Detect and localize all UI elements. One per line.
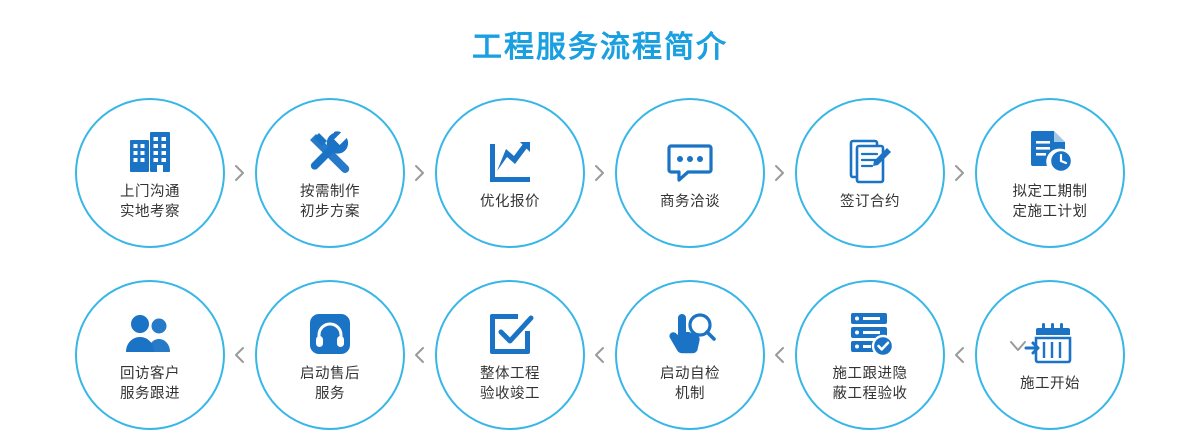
flow-node-8[interactable]: 施工跟进隐 蔽工程验收 xyxy=(795,280,945,430)
flow-node-9[interactable]: 启动自检 机制 xyxy=(615,280,765,430)
flow-node-label: 施工开始 xyxy=(1020,374,1080,394)
flow-node-10[interactable]: 整体工程 验收竣工 xyxy=(435,280,585,430)
flow-node-12[interactable]: 回访客户 服务跟进 xyxy=(75,280,225,430)
headset-icon xyxy=(304,306,356,358)
chart-down-icon xyxy=(484,134,536,186)
server-check-icon xyxy=(844,306,896,358)
tools-icon xyxy=(304,124,356,176)
contract-pen-icon xyxy=(844,134,896,186)
flow-node-label: 启动售后 服务 xyxy=(300,364,360,404)
checkbox-icon xyxy=(484,306,536,358)
connector-arrow-left xyxy=(945,345,975,365)
hand-search-icon xyxy=(664,306,716,358)
flow-node-label: 按需制作 初步方案 xyxy=(300,182,360,222)
users-icon xyxy=(124,306,176,358)
flow-node-label: 上门沟通 实地考察 xyxy=(120,182,180,222)
flow-node-2[interactable]: 按需制作 初步方案 xyxy=(255,98,405,248)
flow-node-11[interactable]: 启动售后 服务 xyxy=(255,280,405,430)
connector-arrow-left xyxy=(765,345,795,365)
flow-node-3[interactable]: 优化报价 xyxy=(435,98,585,248)
chat-bubble-icon xyxy=(664,134,716,186)
connector-arrow-down xyxy=(1008,334,1038,366)
flow-row-1: 上门沟通 实地考察 按需制作 初步方案 xyxy=(0,88,1200,258)
connector-arrow-left xyxy=(225,345,255,365)
process-flow-diagram: 上门沟通 实地考察 按需制作 初步方案 xyxy=(0,88,1200,440)
flow-node-1[interactable]: 上门沟通 实地考察 xyxy=(75,98,225,248)
connector-arrow-right xyxy=(225,163,255,183)
connector-arrow-right xyxy=(585,163,615,183)
flow-node-label: 拟定工期制 定施工计划 xyxy=(1013,182,1088,222)
connector-arrow-left xyxy=(585,345,615,365)
connector-arrow-right xyxy=(765,163,795,183)
page-title: 工程服务流程简介 xyxy=(0,22,1200,66)
flow-node-6[interactable]: 拟定工期制 定施工计划 xyxy=(975,98,1125,248)
flow-node-label: 商务洽谈 xyxy=(660,192,720,212)
building-icon xyxy=(124,124,176,176)
flow-node-5[interactable]: 签订合约 xyxy=(795,98,945,248)
flow-node-7[interactable]: 施工开始 xyxy=(975,280,1125,430)
flow-node-label: 签订合约 xyxy=(840,192,900,212)
connector-arrow-right xyxy=(945,163,975,183)
flow-node-label: 回访客户 服务跟进 xyxy=(120,364,180,404)
document-clock-icon xyxy=(1024,124,1076,176)
flow-node-label: 优化报价 xyxy=(480,192,540,212)
connector-arrow-right xyxy=(405,163,435,183)
flow-node-label: 整体工程 验收竣工 xyxy=(480,364,540,404)
connector-arrow-left xyxy=(405,345,435,365)
flow-node-label: 施工跟进隐 蔽工程验收 xyxy=(833,364,908,404)
flow-node-4[interactable]: 商务洽谈 xyxy=(615,98,765,248)
flow-node-label: 启动自检 机制 xyxy=(660,364,720,404)
